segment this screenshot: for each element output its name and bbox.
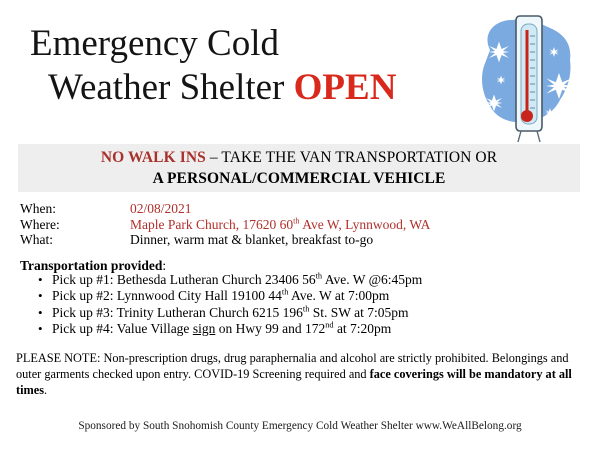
list-item: Pick up #2: Lynnwood City Hall 19100 44t… xyxy=(20,288,580,304)
sponsor-footer: Sponsored by South Snohomish County Emer… xyxy=(0,419,600,433)
detail-value-when: 02/08/2021 xyxy=(130,201,192,217)
list-item: Pick up #3: Trinity Lutheran Church 6215… xyxy=(20,305,580,321)
banner-line-1: NO WALK INS – TAKE THE VAN TRANSPORTATIO… xyxy=(101,147,497,168)
title-line-2: Weather Shelter OPEN xyxy=(30,66,470,110)
page-title: Emergency Cold Weather Shelter OPEN xyxy=(30,22,470,110)
status-badge-open: OPEN xyxy=(294,67,397,108)
detail-value-what: Dinner, warm mat & blanket, breakfast to… xyxy=(130,232,373,248)
note-text-part2: . xyxy=(44,383,47,397)
list-item: Pick up #1: Bethesda Lutheran Church 234… xyxy=(20,272,580,288)
detail-row-what: What: Dinner, warm mat & blanket, breakf… xyxy=(20,232,580,248)
thermometer-leg-left xyxy=(518,131,521,142)
no-walk-ins-banner: NO WALK INS – TAKE THE VAN TRANSPORTATIO… xyxy=(18,144,580,192)
detail-value-where: Maple Park Church, 17620 60th Ave W, Lyn… xyxy=(130,217,430,233)
detail-label-when: When: xyxy=(20,201,130,217)
detail-label-where: Where: xyxy=(20,217,130,233)
transportation-heading-colon: : xyxy=(162,258,166,273)
event-details: When: 02/08/2021 Where: Maple Park Churc… xyxy=(20,201,580,248)
list-item: Pick up #4: Value Village sign on Hwy 99… xyxy=(20,321,580,337)
pickup-list: Pick up #1: Bethesda Lutheran Church 234… xyxy=(20,272,580,338)
title-line-1: Emergency Cold xyxy=(30,22,470,66)
thermometer-leg-right xyxy=(537,131,540,142)
no-walk-ins-label: NO WALK INS xyxy=(101,149,206,166)
thermometer-mercury xyxy=(526,30,529,114)
detail-label-what: What: xyxy=(20,232,130,248)
banner-line-2: A PERSONAL/COMMERCIAL VEHICLE xyxy=(153,168,446,189)
please-note-paragraph: PLEASE NOTE: Non-prescription drugs, dru… xyxy=(16,350,576,399)
title-line-2-text: Weather Shelter xyxy=(48,67,294,108)
banner-line-1-rest: – TAKE THE VAN TRANSPORTATION OR xyxy=(206,149,497,166)
detail-row-where: Where: Maple Park Church, 17620 60th Ave… xyxy=(20,217,580,233)
transportation-heading-text: Transportation provided xyxy=(20,258,162,273)
sign-emphasis: sign xyxy=(193,321,216,336)
detail-row-when: When: 02/08/2021 xyxy=(20,201,580,217)
thermometer-tube xyxy=(521,24,537,124)
thermometer-bulb xyxy=(521,110,533,122)
thermometer-icon xyxy=(468,8,590,143)
